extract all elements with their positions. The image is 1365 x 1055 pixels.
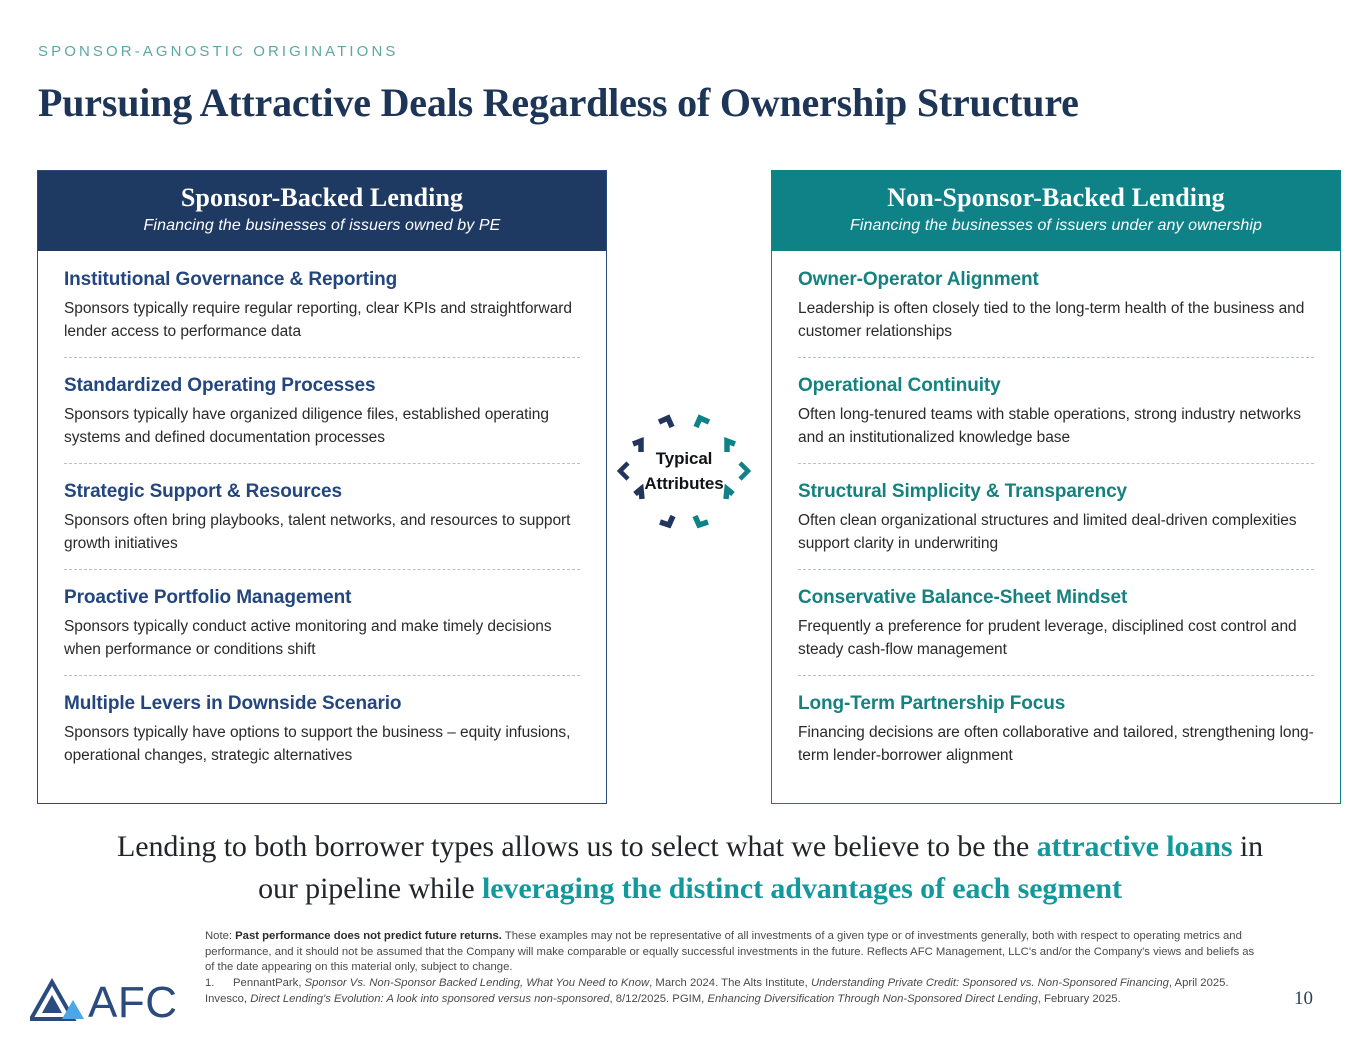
feature-title: Conservative Balance-Sheet Mindset (798, 585, 1314, 611)
feature-item: Operational Continuity Often long-tenure… (798, 373, 1314, 449)
feature-divider (798, 675, 1314, 676)
feature-divider (64, 357, 580, 358)
footnote-segment: Understanding Private Credit: Sponsored … (811, 977, 1169, 989)
page-title: Pursuing Attractive Deals Regardless of … (38, 79, 1079, 126)
page-number: 10 (1294, 988, 1313, 1010)
feature-divider (64, 463, 580, 464)
panel-sponsor-backed: Sponsor-Backed Lending Financing the bus… (37, 170, 607, 804)
footnote-segment: , March 2024. The Alts Institute, (649, 977, 811, 989)
feature-item: Multiple Levers in Downside Scenario Spo… (64, 691, 580, 767)
feature-description: Sponsors typically conduct active monito… (64, 615, 580, 661)
footnote-segment: , February 2025. (1038, 993, 1121, 1005)
badge-label-line1: Typical (608, 446, 760, 471)
disclaimer-note: Note: Past performance does not predict … (205, 929, 1260, 976)
feature-divider (798, 357, 1314, 358)
feature-divider (64, 675, 580, 676)
badge-label: Typical Attributes (608, 446, 760, 496)
feature-description: Leadership is often closely tied to the … (798, 297, 1314, 343)
summary-callout: Lending to both borrower types allows us… (100, 826, 1280, 910)
footnote-sources: 1. PennantPark, Sponsor Vs. Non-Sponsor … (205, 976, 1260, 1007)
callout-part1: Lending to both borrower types allows us… (117, 830, 1037, 863)
feature-title: Owner-Operator Alignment (798, 267, 1314, 293)
note-bold: Past performance does not predict future… (235, 930, 502, 942)
feature-title: Standardized Operating Processes (64, 373, 580, 399)
feature-description: Frequently a preference for prudent leve… (798, 615, 1314, 661)
typical-attributes-badge: Typical Attributes (608, 396, 760, 546)
afc-wordmark: AFC (88, 980, 178, 1026)
badge-label-line2: Attributes (608, 471, 760, 496)
panel-title: Sponsor-Backed Lending (38, 181, 606, 215)
feature-title: Structural Simplicity & Transparency (798, 479, 1314, 505)
feature-divider (798, 569, 1314, 570)
feature-title: Strategic Support & Resources (64, 479, 580, 505)
feature-item: Structural Simplicity & Transparency Oft… (798, 479, 1314, 555)
feature-item: Proactive Portfolio Management Sponsors … (64, 585, 580, 661)
corner-bracket-icon (695, 516, 708, 525)
panel-subtitle: Financing the businesses of issuers owne… (38, 215, 606, 237)
panel-header-sponsor-backed: Sponsor-Backed Lending Financing the bus… (38, 171, 606, 251)
afc-triangle-logo-icon (30, 978, 86, 1024)
feature-description: Sponsors typically have options to suppo… (64, 721, 580, 767)
feature-description: Sponsors typically have organized dilige… (64, 403, 580, 449)
feature-item: Owner-Operator Alignment Leadership is o… (798, 267, 1314, 343)
footnote-number: 1. (205, 976, 233, 992)
panel-body-sponsor-backed: Institutional Governance & Reporting Spo… (38, 251, 606, 767)
feature-item: Standardized Operating Processes Sponsor… (64, 373, 580, 449)
callout-highlight2: leveraging the distinct advantages of ea… (482, 872, 1122, 905)
footnote-segment: , 8/12/2025. PGIM, (609, 993, 707, 1005)
footnote-text: PennantPark, Sponsor Vs. Non-Sponsor Bac… (205, 977, 1229, 1005)
feature-divider (798, 463, 1314, 464)
panel-non-sponsor-backed: Non-Sponsor-Backed Lending Financing the… (771, 170, 1341, 804)
feature-description: Often clean organizational structures an… (798, 509, 1314, 555)
feature-description: Sponsors often bring playbooks, talent n… (64, 509, 580, 555)
corner-bracket-icon (696, 418, 709, 427)
footnote-segment: Direct Lending's Evolution: A look into … (250, 993, 609, 1005)
corner-bracket-icon (659, 418, 672, 427)
feature-item: Conservative Balance-Sheet Mindset Frequ… (798, 585, 1314, 661)
feature-description: Sponsors typically require regular repor… (64, 297, 580, 343)
footnote-segment: Sponsor Vs. Non-Sponsor Backed Lending, … (305, 977, 650, 989)
footnote-segment: Enhancing Diversification Through Non-Sp… (707, 993, 1037, 1005)
feature-title: Operational Continuity (798, 373, 1314, 399)
panel-body-non-sponsor-backed: Owner-Operator Alignment Leadership is o… (772, 251, 1340, 767)
feature-title: Proactive Portfolio Management (64, 585, 580, 611)
feature-title: Multiple Levers in Downside Scenario (64, 691, 580, 717)
corner-bracket-icon (660, 516, 673, 525)
feature-description: Financing decisions are often collaborat… (798, 721, 1314, 767)
afc-logo: AFC (30, 978, 86, 1029)
feature-item: Institutional Governance & Reporting Spo… (64, 267, 580, 343)
note-label: Note: (205, 930, 235, 942)
slide-eyebrow: SPONSOR-AGNOSTIC ORIGINATIONS (38, 43, 398, 60)
feature-item: Strategic Support & Resources Sponsors o… (64, 479, 580, 555)
feature-description: Often long-tenured teams with stable ope… (798, 403, 1314, 449)
feature-title: Institutional Governance & Reporting (64, 267, 580, 293)
footnote-segment: PennantPark, (233, 977, 305, 989)
callout-highlight1: attractive loans (1037, 830, 1233, 863)
panel-title: Non-Sponsor-Backed Lending (772, 181, 1340, 215)
feature-title: Long-Term Partnership Focus (798, 691, 1314, 717)
panel-header-non-sponsor-backed: Non-Sponsor-Backed Lending Financing the… (772, 171, 1340, 251)
feature-item: Long-Term Partnership Focus Financing de… (798, 691, 1314, 767)
feature-divider (64, 569, 580, 570)
panel-subtitle: Financing the businesses of issuers unde… (772, 215, 1340, 237)
